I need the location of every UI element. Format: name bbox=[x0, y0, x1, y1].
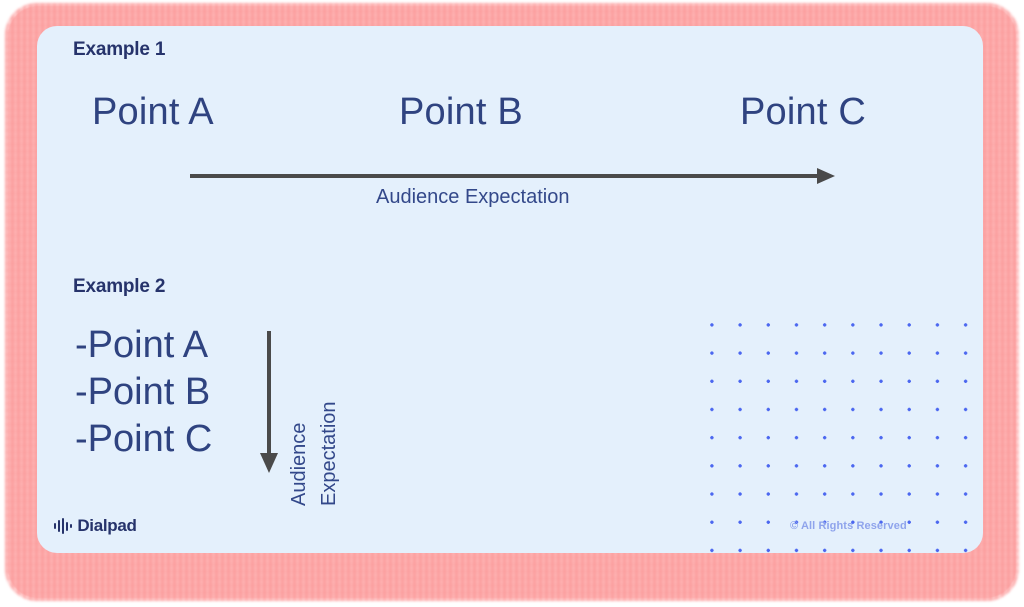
dot-grid-decoration bbox=[688, 314, 983, 553]
horizontal-arrow-icon bbox=[190, 166, 835, 188]
copyright-text: © All Rights Reserved bbox=[790, 520, 907, 532]
example-1-point-a: Point A bbox=[92, 91, 214, 134]
vertical-arrow-icon bbox=[258, 331, 280, 473]
slide-canvas: Example 1 Point A Point B Point C Audien… bbox=[0, 0, 1024, 607]
example-1-point-c: Point C bbox=[740, 91, 866, 134]
example-2-caption-line-1: Audience bbox=[288, 423, 311, 506]
logo-wordmark: Dialpad bbox=[77, 516, 136, 536]
example-1-point-b: Point B bbox=[399, 91, 523, 134]
waveform-icon bbox=[54, 518, 72, 534]
example-2-point-list: -Point A -Point B -Point C bbox=[75, 322, 212, 463]
example-1-arrow-caption: Audience Expectation bbox=[376, 186, 569, 209]
example-2-point-b: -Point B bbox=[75, 369, 212, 416]
content-card: Example 1 Point A Point B Point C Audien… bbox=[37, 26, 983, 553]
arrow-shaft bbox=[190, 174, 821, 178]
example-2-heading: Example 2 bbox=[73, 276, 165, 298]
arrow-head bbox=[260, 453, 278, 473]
example-2-arrow-caption: Audience Expectation bbox=[289, 326, 375, 506]
example-1-heading: Example 1 bbox=[73, 39, 165, 61]
arrow-shaft bbox=[267, 331, 271, 455]
example-2-point-c: -Point C bbox=[75, 416, 212, 463]
arrow-head bbox=[817, 168, 835, 184]
example-2-point-a: -Point A bbox=[75, 322, 212, 369]
dialpad-logo: Dialpad bbox=[54, 516, 137, 536]
example-2-caption-line-2: Expectation bbox=[318, 401, 341, 506]
